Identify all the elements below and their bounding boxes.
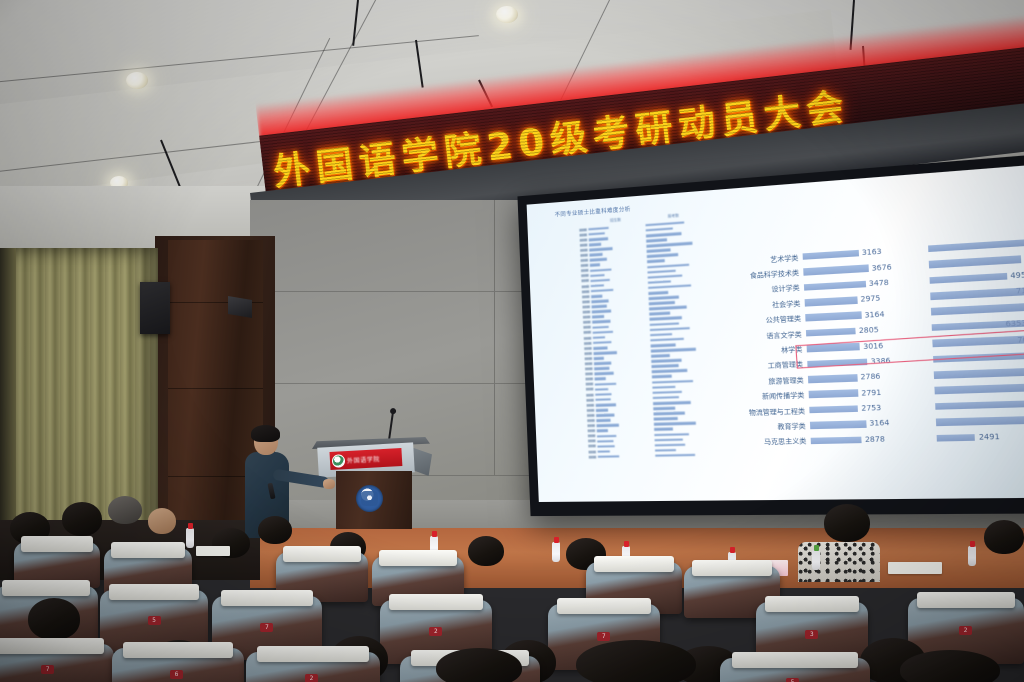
mini-bar-a bbox=[593, 341, 611, 344]
slide-excerpt-table: 艺术学类31637769食品科学技术类36765884设计学类34784950社… bbox=[707, 175, 1024, 501]
excerpt-row-label: 林学类 bbox=[721, 344, 807, 357]
auditorium-photo: 外国语学院20级考研动员大会 不同专业硕士比重科难度分析 bbox=[0, 0, 1024, 682]
excerpt-bar-a bbox=[806, 328, 856, 337]
excerpt-value-a: 2786 bbox=[860, 373, 880, 382]
seat-desk bbox=[732, 652, 858, 668]
mini-bar-a bbox=[596, 409, 608, 412]
mini-bar-a-wrap bbox=[598, 455, 651, 459]
seat-desk bbox=[221, 590, 313, 606]
seat-number-plate: 2 bbox=[429, 627, 442, 636]
excerpt-bar-a bbox=[805, 296, 858, 306]
mini-bar-b bbox=[653, 417, 677, 420]
mini-bar-b bbox=[655, 449, 677, 452]
excerpt-row-label: 旅游管理类 bbox=[723, 375, 809, 387]
mini-bar-a bbox=[590, 264, 600, 267]
excerpt-bar-a-cell: 2753 bbox=[809, 402, 935, 414]
audience-head-foreground bbox=[436, 648, 522, 682]
seat-desk bbox=[0, 638, 104, 654]
water-bottle bbox=[812, 550, 820, 570]
mini-bar-b-wrap bbox=[655, 453, 718, 457]
mini-bar-b bbox=[653, 407, 675, 410]
water-bottle bbox=[552, 542, 560, 562]
excerpt-row-label: 社会学类 bbox=[719, 298, 804, 312]
excerpt-bar-b bbox=[929, 273, 1006, 285]
seat-desk bbox=[283, 546, 360, 562]
audience-head bbox=[62, 502, 102, 536]
mini-bar-a bbox=[592, 315, 603, 318]
seat-desk bbox=[557, 598, 651, 614]
seat-desk bbox=[257, 646, 370, 662]
seat-desk bbox=[765, 596, 859, 612]
projection-screen[interactable]: 不同专业硕士比重科难度分析 招生数 报考数 ██████████████████… bbox=[517, 152, 1024, 516]
excerpt-bar-b bbox=[934, 383, 1024, 395]
audience-head bbox=[28, 598, 80, 640]
ceiling-downlight bbox=[496, 6, 518, 23]
mini-bar-a bbox=[595, 377, 606, 380]
audience-head bbox=[824, 504, 870, 542]
podium-sign-text: 外国语学院 bbox=[347, 454, 380, 465]
excerpt-bar-b bbox=[933, 351, 1024, 363]
mini-bar-a bbox=[590, 253, 603, 256]
mini-row-label: ████ bbox=[547, 455, 598, 459]
audience-head-foreground bbox=[576, 640, 696, 682]
mini-bar-a bbox=[593, 325, 609, 328]
seat-number-plate: 2 bbox=[305, 674, 318, 682]
mini-bar-a bbox=[591, 295, 602, 298]
excerpt-row-label: 物流管理与工程类 bbox=[724, 405, 810, 417]
seat-desk bbox=[389, 594, 483, 610]
excerpt-bar-b bbox=[932, 335, 1024, 347]
excerpt-bar-b-cell: 2491 bbox=[937, 429, 1024, 443]
excerpt-bar-a-cell: 3386 bbox=[807, 355, 933, 368]
desk-paper bbox=[196, 546, 230, 556]
seat[interactable]: 7 bbox=[0, 644, 114, 682]
wall-tile bbox=[250, 200, 495, 292]
excerpt-value-a: 2878 bbox=[865, 435, 885, 444]
projection-screen-surface: 不同专业硕士比重科难度分析 招生数 报考数 ██████████████████… bbox=[527, 163, 1024, 502]
seat-desk bbox=[21, 536, 93, 552]
seat-desk bbox=[692, 560, 773, 576]
excerpt-bar-b-cell: 11265 bbox=[935, 397, 1024, 410]
seat[interactable]: 2 bbox=[246, 652, 380, 682]
mini-bar-a bbox=[595, 388, 608, 391]
excerpt-bar-a bbox=[804, 280, 866, 290]
mini-bar-a bbox=[589, 243, 601, 246]
excerpt-row-label: 公共管理类 bbox=[720, 313, 805, 327]
presentation-slide: 不同专业硕士比重科难度分析 招生数 报考数 ██████████████████… bbox=[527, 163, 1024, 502]
audience-patterned-garment bbox=[798, 542, 880, 582]
seat-number-plate: 6 bbox=[170, 670, 183, 679]
mini-bar-b bbox=[654, 433, 689, 437]
seat-desk bbox=[917, 592, 1014, 608]
seat-number-plate: 7 bbox=[260, 623, 273, 632]
excerpt-bar-a bbox=[805, 312, 861, 322]
excerpt-row-label: 马克思主义类 bbox=[725, 436, 811, 447]
mini-bar-a bbox=[593, 320, 611, 324]
mini-bar-a bbox=[595, 382, 616, 385]
excerpt-value-b: 7047 bbox=[1017, 335, 1024, 345]
excerpt-bar-a bbox=[803, 265, 868, 276]
excerpt-bar-b bbox=[934, 366, 1024, 379]
seat-number-plate: 5 bbox=[148, 616, 161, 625]
presenter-hand bbox=[323, 479, 335, 489]
mini-bar-a bbox=[597, 424, 619, 427]
mini-bar-a bbox=[595, 372, 614, 375]
seat-desk bbox=[123, 642, 234, 658]
mini-bar-b bbox=[653, 396, 679, 400]
excerpt-bar-a-cell: 3164 bbox=[810, 418, 936, 430]
audience-head bbox=[984, 520, 1024, 554]
excerpt-bar-b-cell: 10932 bbox=[936, 413, 1024, 426]
excerpt-bar-a bbox=[803, 250, 859, 261]
seat-number-plate: 3 bbox=[805, 630, 818, 639]
excerpt-value-b: 6353 bbox=[1005, 319, 1024, 329]
excerpt-value-a: 2791 bbox=[861, 388, 881, 397]
water-bottle bbox=[186, 528, 194, 548]
desk-paper bbox=[888, 562, 942, 574]
wall-tile bbox=[250, 292, 495, 384]
presenter-hair bbox=[251, 425, 280, 442]
excerpt-bar-b-cell: 7769 bbox=[928, 232, 1024, 253]
mini-bar-a bbox=[591, 284, 604, 287]
excerpt-value-b: 7102 bbox=[1016, 286, 1024, 296]
excerpt-bar-a bbox=[807, 358, 867, 367]
excerpt-bar-b bbox=[929, 256, 1021, 269]
mini-bar-a bbox=[593, 336, 605, 339]
excerpt-bar-a-cell: 3016 bbox=[807, 339, 933, 353]
mini-bar-a bbox=[594, 357, 604, 360]
excerpt-bar-b bbox=[936, 414, 1024, 426]
seat[interactable]: 5 bbox=[720, 658, 870, 682]
mini-bar-b bbox=[652, 375, 673, 378]
excerpt-value-b: 2491 bbox=[979, 432, 1000, 441]
excerpt-row-label: 设计学类 bbox=[719, 283, 804, 297]
slide-mini-table: 招生数 报考数 ████████████████████████████████… bbox=[537, 207, 719, 502]
excerpt-value-a: 3164 bbox=[869, 419, 889, 428]
seat-number-plate: 5 bbox=[786, 678, 799, 682]
excerpt-bar-a bbox=[808, 374, 857, 383]
excerpt-bar-a-cell: 2791 bbox=[809, 386, 935, 399]
mini-bar-a bbox=[596, 393, 612, 396]
excerpt-bar-b bbox=[930, 287, 1024, 300]
seat-number-plate: 2 bbox=[959, 626, 972, 635]
excerpt-rows: 艺术学类31637769食品科学技术类36765884设计学类34784950社… bbox=[717, 227, 1024, 450]
excerpt-bar-a bbox=[811, 436, 862, 444]
audience-head bbox=[148, 508, 176, 534]
mini-bar-a bbox=[598, 455, 619, 458]
mini-bar-b bbox=[652, 385, 675, 388]
excerpt-bar-a bbox=[809, 405, 858, 413]
seat-number-plate: 7 bbox=[597, 632, 610, 641]
mini-bar-a bbox=[596, 414, 614, 417]
seat-desk bbox=[2, 580, 89, 596]
excerpt-value-a: 3386 bbox=[870, 357, 890, 366]
mini-bar-b bbox=[651, 354, 670, 357]
excerpt-value-a: 2753 bbox=[861, 404, 881, 413]
mini-bar-a bbox=[595, 367, 610, 370]
excerpt-value-a: 3163 bbox=[862, 248, 882, 258]
seat[interactable]: 6 bbox=[112, 648, 244, 682]
podium-sign: 外国语学院 bbox=[329, 448, 402, 470]
excerpt-row-label: 语言文学类 bbox=[721, 329, 807, 342]
excerpt-row-label: 新闻传播学类 bbox=[723, 390, 809, 402]
seat-desk bbox=[379, 550, 456, 566]
excerpt-value-a: 2975 bbox=[860, 294, 880, 304]
mini-bar-a bbox=[597, 429, 607, 432]
excerpt-value-a: 3016 bbox=[863, 341, 883, 350]
excerpt-bar-b bbox=[935, 398, 1024, 410]
mini-bar-a bbox=[591, 274, 605, 277]
excerpt-value-a: 2805 bbox=[859, 326, 879, 336]
excerpt-bar-a-cell: 2786 bbox=[808, 371, 934, 384]
mini-bar-b bbox=[655, 454, 695, 457]
seat-desk bbox=[594, 556, 675, 572]
mini-bar-b bbox=[654, 428, 674, 431]
excerpt-bar-a bbox=[809, 390, 859, 399]
excerpt-bar-b bbox=[928, 238, 1024, 253]
audience-head bbox=[258, 516, 292, 544]
mini-bar-a bbox=[598, 440, 614, 443]
mini-bar-a bbox=[596, 398, 611, 401]
mini-bar-a bbox=[596, 403, 616, 406]
mini-bar-a bbox=[598, 450, 610, 453]
audience-head-foreground bbox=[900, 650, 1000, 682]
excerpt-bar-a bbox=[810, 421, 866, 429]
mini-bar-a bbox=[594, 346, 608, 349]
ceiling-downlight bbox=[126, 72, 148, 89]
seat-desk bbox=[111, 542, 185, 558]
excerpt-bar-b-cell: 8375 bbox=[934, 380, 1024, 394]
mini-bar-b bbox=[653, 412, 685, 416]
mini-bar-a bbox=[592, 299, 609, 303]
excerpt-row-label: 工商管理类 bbox=[722, 359, 808, 372]
excerpt-value-a: 3164 bbox=[864, 310, 884, 320]
water-bottle bbox=[968, 546, 976, 566]
mini-bar-b bbox=[654, 443, 685, 446]
mini-bar-a bbox=[592, 305, 607, 308]
excerpt-bar-b bbox=[931, 301, 1024, 316]
excerpt-bar-b-cell: 9785 bbox=[934, 364, 1024, 379]
mini-bar-b bbox=[654, 438, 683, 441]
excerpt-value-a: 3478 bbox=[869, 278, 889, 288]
audience-head bbox=[108, 496, 142, 524]
wall-speaker bbox=[140, 282, 170, 334]
excerpt-row-label: 教育学类 bbox=[725, 421, 811, 433]
mini-table-rows: ████████████████████████████████████████… bbox=[538, 218, 718, 460]
excerpt-bar-a bbox=[807, 343, 860, 352]
mini-bar-a bbox=[598, 445, 615, 448]
excerpt-value-b: 4950 bbox=[1010, 270, 1024, 280]
excerpt-bar-a-cell: 2878 bbox=[811, 434, 937, 445]
university-emblem-icon bbox=[332, 454, 346, 468]
excerpt-value-a: 3676 bbox=[872, 263, 892, 273]
seat-desk bbox=[109, 584, 200, 600]
audience-head bbox=[468, 536, 504, 566]
seat-number-plate: 7 bbox=[41, 665, 54, 674]
mini-bar-a bbox=[594, 362, 611, 365]
mini-bar-a bbox=[597, 419, 611, 422]
mini-bar-a bbox=[597, 434, 616, 437]
audience-seating: 2 5 7 2 7 3 2 bbox=[0, 490, 1024, 682]
excerpt-bar-b bbox=[937, 434, 976, 442]
